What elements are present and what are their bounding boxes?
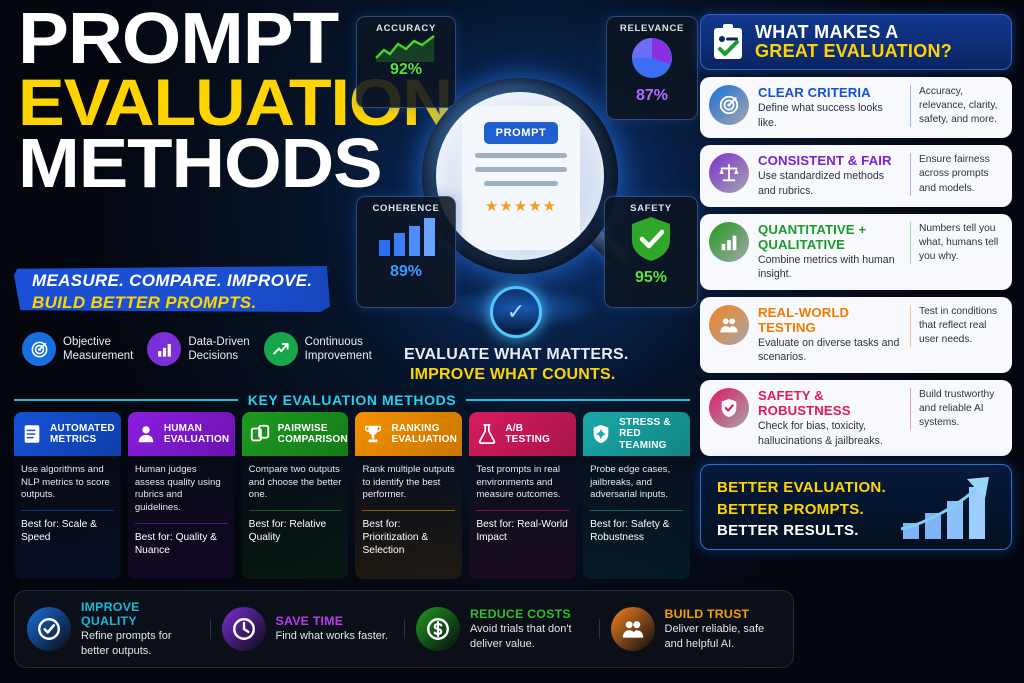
criteria-card-note: Numbers tell you what, humans tell you w… xyxy=(910,222,1003,264)
check-circle-icon: ✓ xyxy=(490,286,542,338)
prompt-chip: PROMPT xyxy=(484,122,558,144)
criteria-card-main: QUANTITATIVE + QUALITATIVECombine metric… xyxy=(758,222,901,282)
right-header-line-1: WHAT MAKES A xyxy=(755,23,952,42)
divider-right xyxy=(466,399,690,401)
criteria-card-title: QUANTITATIVE + QUALITATIVE xyxy=(758,222,901,252)
better-line-1: BETTER EVALUATION. xyxy=(717,477,886,498)
magnifier-lens: PROMPT ★★★★★ xyxy=(436,92,604,260)
criteria-card-list: CLEAR CRITERIADefine what success looks … xyxy=(700,77,1012,456)
criteria-card-note: Build trustworthy and reliable AI system… xyxy=(910,388,1003,430)
methods-heading: KEY EVALUATION METHODS xyxy=(14,392,690,408)
target-icon xyxy=(709,85,749,125)
benefit-item-1[interactable]: IMPROVE QUALITYRefine prompts for better… xyxy=(15,600,210,658)
benefit-title: SAVE TIME xyxy=(276,614,389,628)
method-card-title: PAIRWISECOMPARISON xyxy=(278,423,348,446)
criteria-card-2[interactable]: CONSISTENT & FAIRUse standardized method… xyxy=(700,145,1012,206)
method-card-1[interactable]: AUTOMATEDMETRICSUse algorithms and NLP m… xyxy=(14,412,121,579)
method-card-body: Probe edge cases, jailbreaks, and advers… xyxy=(583,456,690,579)
feature-chip-1: ObjectiveMeasurement xyxy=(22,332,133,366)
target-icon xyxy=(22,332,56,366)
bar-chart-icon xyxy=(709,222,749,262)
divider-left xyxy=(14,399,238,401)
feature-chip-label: ObjectiveMeasurement xyxy=(63,335,133,363)
title-line-3: METHODS xyxy=(18,133,378,195)
divider xyxy=(135,523,228,524)
criteria-card-main: REAL-WORLD TESTINGEvaluate on diverse ta… xyxy=(758,305,901,365)
method-card-description: Compare two outputs and choose the bette… xyxy=(249,464,342,502)
method-card-title: HUMANEVALUATION xyxy=(164,423,230,446)
doc-line xyxy=(475,167,567,172)
kpi-safety: SAFETY 95% xyxy=(604,196,698,308)
kpi-coherence: COHERENCE 89% xyxy=(356,196,456,308)
criteria-card-title: CONSISTENT & FAIR xyxy=(758,153,901,168)
method-card-bestfor: Best for: Scale & Speed xyxy=(21,518,114,544)
criteria-card-note: Test in conditions that reflect real use… xyxy=(910,305,1003,347)
right-panel: WHAT MAKES A GREAT EVALUATION? CLEAR CRI… xyxy=(700,14,1012,550)
banner-line-2: BUILD BETTER PROMPTS. xyxy=(32,292,330,314)
method-card-header: A/B TESTING xyxy=(469,412,576,456)
method-card-title: AUTOMATEDMETRICS xyxy=(50,423,115,446)
scales-icon xyxy=(709,153,749,193)
shield-check-icon xyxy=(718,397,740,419)
benefit-text: REDUCE COSTSAvoid trials that don't deli… xyxy=(470,607,587,651)
criteria-card-4[interactable]: REAL-WORLD TESTINGEvaluate on diverse ta… xyxy=(700,297,1012,373)
criteria-card-description: Combine metrics with human insight. xyxy=(758,253,901,282)
divider xyxy=(590,510,683,511)
criteria-card-description: Define what success looks like. xyxy=(758,101,901,130)
method-card-title: RANKINGEVALUATION xyxy=(391,423,457,446)
kpi-value: 89% xyxy=(365,263,447,281)
flask-icon xyxy=(476,423,498,445)
method-card-3[interactable]: PAIRWISECOMPARISONCompare two outputs an… xyxy=(242,412,349,579)
criteria-card-note: Ensure fairness across prompts and model… xyxy=(910,153,1003,195)
criteria-card-title: REAL-WORLD TESTING xyxy=(758,305,901,335)
shield-check-icon xyxy=(709,388,749,428)
trend-up-icon xyxy=(271,340,290,359)
method-card-body: Test prompts in real environments and me… xyxy=(469,456,576,579)
method-card-header: STRESS & REDTEAMING xyxy=(583,412,690,456)
compare-icon xyxy=(248,422,272,446)
kpi-relevance: RELEVANCE 87% xyxy=(606,16,698,120)
divider xyxy=(476,510,569,511)
doc-line xyxy=(484,181,558,186)
dollar-icon xyxy=(425,616,451,642)
benefit-description: Avoid trials that don't deliver value. xyxy=(470,622,587,651)
kpi-label: ACCURACY xyxy=(365,23,447,34)
rating-stars: ★★★★★ xyxy=(462,197,580,215)
clock-icon xyxy=(222,607,266,651)
divider xyxy=(249,510,342,511)
benefit-description: Deliver reliable, safe and helpful AI. xyxy=(665,622,782,651)
divider xyxy=(21,510,114,511)
criteria-card-1[interactable]: CLEAR CRITERIADefine what success looks … xyxy=(700,77,1012,138)
shield-check-icon xyxy=(627,214,675,264)
scales-icon xyxy=(718,162,740,184)
target-icon xyxy=(30,340,49,359)
right-panel-header: WHAT MAKES A GREAT EVALUATION? xyxy=(700,14,1012,70)
feature-chip-3: ContinuousImprovement xyxy=(264,332,372,366)
method-card-description: Probe edge cases, jailbreaks, and advers… xyxy=(590,464,683,502)
criteria-card-title: SAFETY & ROBUSTNESS xyxy=(758,388,901,418)
method-card-list: AUTOMATEDMETRICSUse algorithms and NLP m… xyxy=(14,412,690,579)
method-card-body: Rank multiple outputs to identify the be… xyxy=(355,456,462,579)
prompt-document: PROMPT ★★★★★ xyxy=(462,106,580,250)
method-card-bestfor: Best for: Quality & Nuance xyxy=(135,531,228,557)
kpi-value: 92% xyxy=(365,61,447,79)
benefit-title: BUILD TRUST xyxy=(665,607,782,621)
benefit-text: SAVE TIMEFind what works faster. xyxy=(276,614,389,643)
method-card-title: A/B TESTING xyxy=(505,423,570,446)
method-card-body: Compare two outputs and choose the bette… xyxy=(242,456,349,579)
line-chart-icon xyxy=(374,34,438,62)
criteria-card-5[interactable]: SAFETY & ROBUSTNESSCheck for bias, toxic… xyxy=(700,380,1012,456)
kpi-label: SAFETY xyxy=(613,203,689,214)
infographic-canvas: PROMPT EVALUATION METHODS MEASURE. COMPA… xyxy=(0,0,1024,683)
benefit-title: REDUCE COSTS xyxy=(470,607,587,621)
bar-chart-icon xyxy=(375,214,437,258)
feature-chip-list: ObjectiveMeasurementData-DrivenDecisions… xyxy=(22,332,402,366)
method-card-bestfor: Best for: Relative Quality xyxy=(249,518,342,544)
title-line-1: PROMPT xyxy=(18,8,378,71)
benefit-item-4[interactable]: BUILD TRUSTDeliver reliable, safe and he… xyxy=(599,607,794,651)
method-card-description: Use algorithms and NLP metrics to score … xyxy=(21,464,114,502)
page-title: PROMPT EVALUATION METHODS xyxy=(18,8,358,195)
bar-chart-icon xyxy=(718,231,740,253)
banner-line-1: MEASURE. COMPARE. IMPROVE. xyxy=(32,266,330,292)
center-tagline-line-1: EVALUATE WHAT MATTERS. xyxy=(404,346,629,364)
methods-heading-label: KEY EVALUATION METHODS xyxy=(248,392,456,408)
pie-chart-icon xyxy=(625,34,679,82)
bar-chart-icon xyxy=(155,340,174,359)
divider xyxy=(362,510,455,511)
criteria-card-main: SAFETY & ROBUSTNESSCheck for bias, toxic… xyxy=(758,388,901,448)
method-card-5[interactable]: A/B TESTINGTest prompts in real environm… xyxy=(469,412,576,579)
method-card-bestfor: Best for: Prioritization & Selection xyxy=(362,518,455,557)
person-icon xyxy=(134,422,158,446)
benefit-title: IMPROVE QUALITY xyxy=(81,600,198,628)
criteria-card-note: Accuracy, relevance, clarity, safety, an… xyxy=(910,85,1003,127)
target-icon xyxy=(718,94,740,116)
method-card-2[interactable]: HUMANEVALUATIONHuman judges assess quali… xyxy=(128,412,235,579)
method-card-bestfor: Best for: Real-World Impact xyxy=(476,518,569,544)
method-card-header: AUTOMATEDMETRICS xyxy=(14,412,121,456)
criteria-card-main: CLEAR CRITERIADefine what success looks … xyxy=(758,85,901,130)
kpi-label: RELEVANCE xyxy=(615,23,689,34)
people-icon xyxy=(709,305,749,345)
trend-up-icon xyxy=(264,332,298,366)
flask-icon xyxy=(475,422,499,446)
kpi-value: 87% xyxy=(615,87,689,105)
kpi-label: COHERENCE xyxy=(365,203,447,214)
feature-chip-label: Data-DrivenDecisions xyxy=(188,335,249,363)
right-header-line-2: GREAT EVALUATION? xyxy=(755,42,952,61)
method-card-body: Use algorithms and NLP metrics to score … xyxy=(14,456,121,579)
criteria-card-3[interactable]: QUANTITATIVE + QUALITATIVECombine metric… xyxy=(700,214,1012,290)
people-icon xyxy=(620,616,646,642)
clock-icon xyxy=(231,616,257,642)
benefit-text: IMPROVE QUALITYRefine prompts for better… xyxy=(81,600,198,658)
growth-arrow-chart-icon xyxy=(897,473,1001,541)
subtitle-banner: MEASURE. COMPARE. IMPROVE. BUILD BETTER … xyxy=(14,266,330,312)
better-results-card: BETTER EVALUATION. BETTER PROMPTS. BETTE… xyxy=(700,464,1012,550)
feature-chip-2: Data-DrivenDecisions xyxy=(147,332,249,366)
trophy-icon xyxy=(362,423,384,445)
criteria-card-description: Evaluate on diverse tasks and scenarios. xyxy=(758,336,901,365)
criteria-card-description: Check for bias, toxicity, hallucinations… xyxy=(758,419,901,448)
title-line-2: EVALUATION xyxy=(18,73,378,131)
benefit-description: Refine prompts for better outputs. xyxy=(81,629,198,658)
trophy-icon xyxy=(361,422,385,446)
dollar-icon xyxy=(416,607,460,651)
check-circle-icon xyxy=(27,607,71,651)
method-card-6[interactable]: STRESS & REDTEAMINGProbe edge cases, jai… xyxy=(583,412,690,579)
compare-icon xyxy=(249,423,271,445)
benefit-item-3[interactable]: REDUCE COSTSAvoid trials that don't deli… xyxy=(404,607,599,651)
benefits-bar: IMPROVE QUALITYRefine prompts for better… xyxy=(14,590,794,668)
method-card-description: Rank multiple outputs to identify the be… xyxy=(362,464,455,502)
criteria-card-description: Use standardized methods and rubrics. xyxy=(758,169,901,198)
benefit-description: Find what works faster. xyxy=(276,629,389,643)
method-card-description: Human judges assess quality using rubric… xyxy=(135,464,228,515)
method-card-header: PAIRWISECOMPARISON xyxy=(242,412,349,456)
center-tagline: EVALUATE WHAT MATTERS. IMPROVE WHAT COUN… xyxy=(404,346,629,384)
checklist-icon xyxy=(21,423,43,445)
checklist-icon xyxy=(20,422,44,446)
criteria-card-title: CLEAR CRITERIA xyxy=(758,85,901,100)
shield-bug-icon xyxy=(589,422,613,446)
method-card-4[interactable]: RANKINGEVALUATIONRank multiple outputs t… xyxy=(355,412,462,579)
method-card-title: STRESS & REDTEAMING xyxy=(619,417,684,452)
method-card-header: RANKINGEVALUATION xyxy=(355,412,462,456)
method-card-bestfor: Best for: Safety & Robustness xyxy=(590,518,683,544)
people-icon xyxy=(611,607,655,651)
better-line-2: BETTER PROMPTS. xyxy=(717,499,886,520)
shield-bug-icon xyxy=(590,423,612,445)
doc-line xyxy=(475,153,567,158)
better-line-3: BETTER RESULTS. xyxy=(717,520,886,541)
bar-chart-icon xyxy=(147,332,181,366)
kpi-accuracy: ACCURACY 92% xyxy=(356,16,456,108)
clipboard-check-icon xyxy=(711,23,745,61)
people-icon xyxy=(718,314,740,336)
benefit-item-2[interactable]: SAVE TIMEFind what works faster. xyxy=(210,607,405,651)
kpi-value: 95% xyxy=(613,269,689,287)
method-card-body: Human judges assess quality using rubric… xyxy=(128,456,235,579)
method-card-description: Test prompts in real environments and me… xyxy=(476,464,569,502)
method-card-header: HUMANEVALUATION xyxy=(128,412,235,456)
criteria-card-main: CONSISTENT & FAIRUse standardized method… xyxy=(758,153,901,198)
benefit-text: BUILD TRUSTDeliver reliable, safe and he… xyxy=(665,607,782,651)
person-icon xyxy=(135,423,157,445)
center-tagline-line-2: IMPROVE WHAT COUNTS. xyxy=(410,366,629,384)
check-circle-icon xyxy=(36,616,62,642)
